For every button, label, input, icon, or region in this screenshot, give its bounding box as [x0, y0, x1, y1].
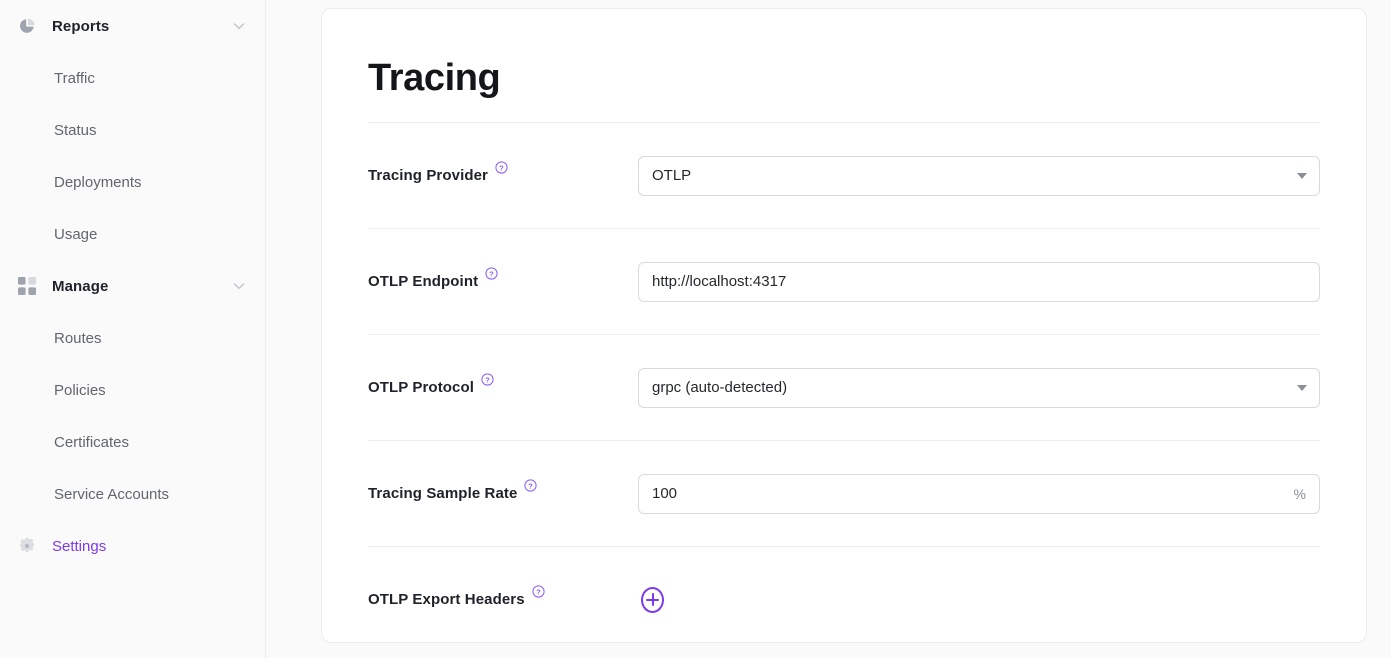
form-control: OTLP: [638, 156, 1320, 196]
settings-card: Tracing Tracing Provider ? OTLP: [321, 8, 1367, 643]
sidebar: Reports Traffic Status Deployments Usage…: [0, 0, 266, 658]
form-label-text: Tracing Sample Rate: [368, 484, 517, 504]
sidebar-section-label: Manage: [52, 278, 231, 295]
sidebar-section-manage[interactable]: Manage: [0, 260, 265, 312]
form-label-text: OTLP Export Headers: [368, 590, 525, 610]
form-control: 100 %: [638, 474, 1320, 514]
pie-chart-icon: [16, 15, 38, 37]
gear-icon: [16, 535, 38, 557]
sidebar-item-label: Policies: [54, 382, 106, 399]
svg-text:?: ?: [485, 375, 490, 384]
help-icon[interactable]: ?: [532, 585, 545, 598]
sidebar-item-label: Traffic: [54, 70, 95, 87]
form-label-text: Tracing Provider: [368, 166, 488, 186]
tracing-provider-select[interactable]: OTLP: [638, 156, 1320, 196]
form-label: OTLP Endpoint ?: [368, 272, 638, 292]
sidebar-item-label: Usage: [54, 226, 97, 243]
form-label-text: OTLP Protocol: [368, 378, 474, 398]
help-icon[interactable]: ?: [495, 161, 508, 174]
grid-icon: [16, 275, 38, 297]
sidebar-item-label: Service Accounts: [54, 486, 169, 503]
chevron-down-icon[interactable]: [231, 278, 247, 294]
plus-circle-icon[interactable]: [641, 587, 664, 613]
form-row-otlp-endpoint: OTLP Endpoint ? http://localhost:4317: [368, 229, 1320, 334]
app-root: Reports Traffic Status Deployments Usage…: [0, 0, 1391, 658]
sidebar-item-status[interactable]: Status: [0, 104, 265, 156]
svg-text:?: ?: [499, 163, 504, 172]
svg-text:?: ?: [489, 269, 494, 278]
sidebar-section-label: Reports: [52, 18, 231, 35]
sidebar-item-label: Routes: [54, 330, 102, 347]
sidebar-item-routes[interactable]: Routes: [0, 312, 265, 364]
form-row-tracing-sample-rate: Tracing Sample Rate ? 100 %: [368, 441, 1320, 546]
sidebar-section-reports[interactable]: Reports: [0, 0, 265, 52]
sidebar-item-label: Certificates: [54, 434, 129, 451]
form-row-tracing-provider: Tracing Provider ? OTLP: [368, 123, 1320, 228]
sidebar-item-label: Deployments: [54, 174, 142, 191]
otlp-endpoint-input[interactable]: http://localhost:4317: [638, 262, 1320, 302]
form-row-otlp-export-headers: OTLP Export Headers ?: [368, 547, 1320, 643]
sidebar-item-traffic[interactable]: Traffic: [0, 52, 265, 104]
form-label: Tracing Provider ?: [368, 166, 638, 186]
form-control: http://localhost:4317: [638, 262, 1320, 302]
sidebar-item-usage[interactable]: Usage: [0, 208, 265, 260]
svg-text:?: ?: [529, 481, 534, 490]
main-content: Tracing Tracing Provider ? OTLP: [266, 0, 1391, 658]
otlp-protocol-select[interactable]: grpc (auto-detected): [638, 368, 1320, 408]
form-control: [638, 587, 1320, 613]
sidebar-item-settings[interactable]: Settings: [0, 520, 265, 572]
page-title: Tracing: [368, 9, 1320, 122]
sidebar-item-label: Status: [54, 122, 97, 139]
sidebar-item-label: Settings: [52, 538, 247, 555]
form-control: grpc (auto-detected): [638, 368, 1320, 408]
help-icon[interactable]: ?: [485, 267, 498, 280]
tracing-sample-rate-input[interactable]: 100: [638, 474, 1320, 514]
svg-text:?: ?: [536, 587, 541, 596]
percent-suffix: %: [1294, 474, 1306, 514]
form-label-text: OTLP Endpoint: [368, 272, 478, 292]
chevron-down-icon[interactable]: [231, 18, 247, 34]
form-label: Tracing Sample Rate ?: [368, 484, 638, 504]
help-icon[interactable]: ?: [524, 479, 537, 492]
help-icon[interactable]: ?: [481, 373, 494, 386]
sidebar-item-service-accounts[interactable]: Service Accounts: [0, 468, 265, 520]
sidebar-item-policies[interactable]: Policies: [0, 364, 265, 416]
form-label: OTLP Export Headers ?: [368, 590, 638, 610]
form-row-otlp-protocol: OTLP Protocol ? grpc (auto-detected): [368, 335, 1320, 440]
form-label: OTLP Protocol ?: [368, 378, 638, 398]
sidebar-item-deployments[interactable]: Deployments: [0, 156, 265, 208]
add-header-button[interactable]: [638, 587, 664, 613]
sidebar-item-certificates[interactable]: Certificates: [0, 416, 265, 468]
